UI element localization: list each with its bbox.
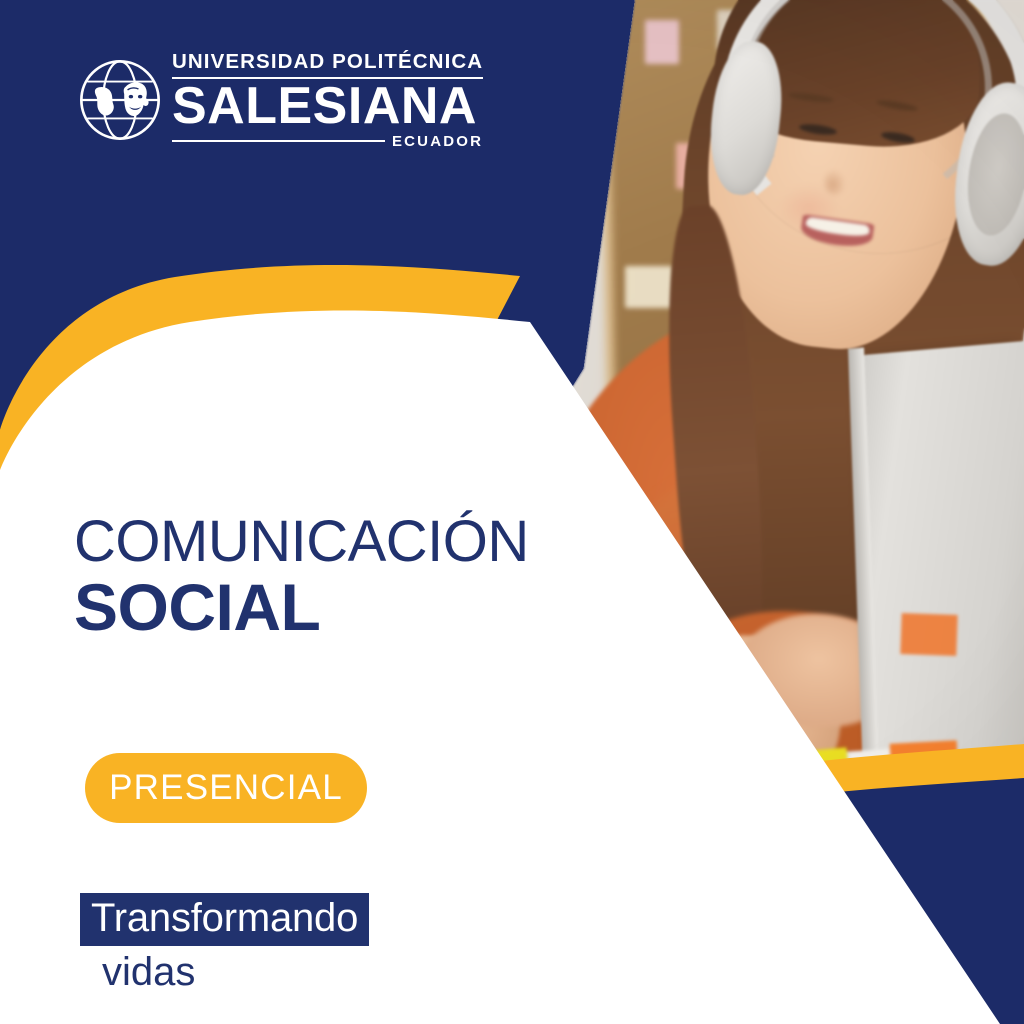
globe-with-portrait-icon bbox=[78, 58, 162, 142]
logo-divider-rule bbox=[172, 140, 385, 142]
modality-badge[interactable]: PRESENCIAL bbox=[85, 753, 367, 823]
logo-line-ecuador: ECUADOR bbox=[392, 134, 483, 149]
tagline-line1: Transformando bbox=[80, 893, 369, 946]
orange-sticky-note bbox=[890, 741, 959, 796]
pinned-note bbox=[645, 20, 679, 64]
program-title: COMUNICACIÓN SOCIAL bbox=[74, 513, 529, 642]
yellow-sticky-note bbox=[714, 747, 853, 835]
logo-wordmark: UNIVERSIDAD POLITÉCNICA SALESIANA ECUADO… bbox=[172, 52, 483, 149]
pinned-note bbox=[625, 266, 673, 308]
logo-line-universidad: UNIVERSIDAD POLITÉCNICA bbox=[172, 52, 483, 79]
logo-line-salesiana: SALESIANA bbox=[172, 80, 483, 133]
orange-sticky-note bbox=[679, 786, 735, 837]
university-logo: UNIVERSIDAD POLITÉCNICA SALESIANA ECUADO… bbox=[78, 52, 483, 149]
program-title-line1: COMUNICACIÓN bbox=[74, 513, 529, 571]
logo-country-row: ECUADOR bbox=[172, 134, 483, 149]
tagline: Transformando vidas bbox=[80, 893, 369, 995]
tagline-line2: vidas bbox=[80, 950, 369, 995]
promo-poster: UNIVERSIDAD POLITÉCNICA SALESIANA ECUADO… bbox=[0, 0, 1024, 1024]
program-title-line2: SOCIAL bbox=[74, 573, 529, 642]
orange-sticky-note bbox=[900, 613, 958, 656]
